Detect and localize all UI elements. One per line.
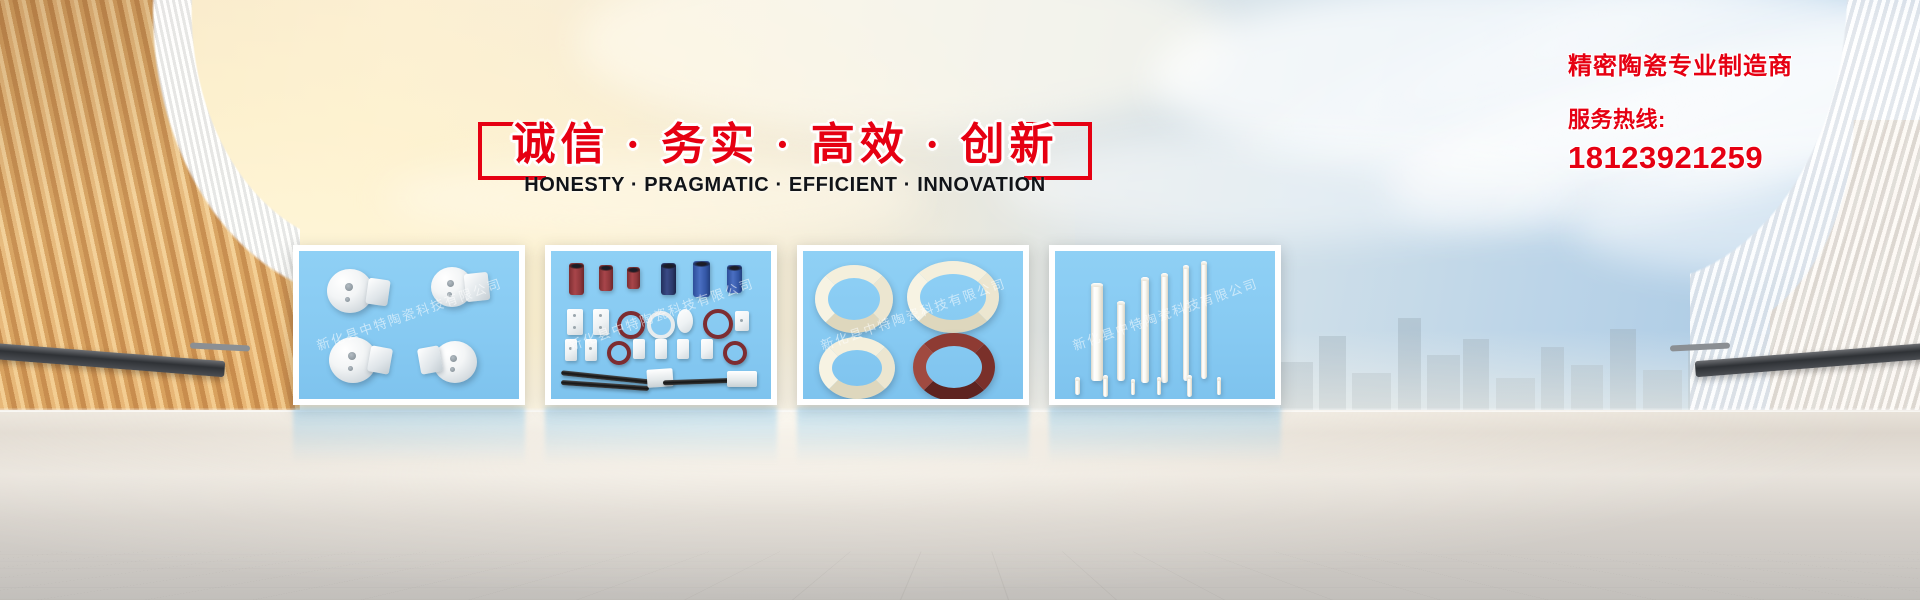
- ceramic-tube: [727, 265, 742, 293]
- ceramic-rod-small: [1217, 377, 1221, 395]
- ceramic-holder-tab: [464, 272, 491, 302]
- ceramic-rod: [1091, 283, 1103, 381]
- ceramic-ring-small: [647, 311, 675, 339]
- ceramic-ring-large: [815, 265, 893, 333]
- ceramic-rod: [1117, 301, 1125, 381]
- product-card-ceramic-rods[interactable]: 新化县中特陶瓷科技有限公司: [1049, 245, 1281, 405]
- ceramic-ring-small: [607, 341, 631, 365]
- product-card-ceramic-lamp-holders[interactable]: 新化县中特陶瓷科技有限公司: [293, 245, 525, 405]
- ceramic-holder-tab: [365, 278, 390, 307]
- ceramic-rod: [1183, 265, 1189, 381]
- ceramic-ring-small: [703, 309, 733, 339]
- ceramic-rod-small: [1187, 375, 1192, 397]
- ceramic-plate: [567, 309, 583, 335]
- ceramic-rod-small: [1075, 377, 1080, 395]
- ceramic-rod-small: [1131, 379, 1135, 395]
- ceramic-plate: [677, 339, 689, 359]
- ceramic-rod: [1201, 261, 1207, 379]
- ceramic-ring-small: [723, 341, 747, 365]
- product-card-ceramic-tubes[interactable]: 新化县中特陶瓷科技有限公司: [545, 245, 777, 405]
- ceramic-tube: [661, 263, 676, 295]
- ceramic-plate: [735, 311, 749, 331]
- ceramic-plate: [585, 339, 597, 361]
- ceramic-plate: [701, 339, 713, 359]
- ceramic-plate: [633, 339, 645, 359]
- ceramic-ring-red: [913, 333, 995, 399]
- product-card-row: 新化县中特陶瓷科技有限公司: [0, 0, 1920, 600]
- ceramic-plate: [593, 309, 609, 335]
- promotional-banner: 诚信 · 务实 · 高效 · 创新 HONESTY · PRAGMATIC · …: [0, 0, 1920, 600]
- ceramic-ring-small: [617, 311, 645, 339]
- ceramic-ring-large: [907, 261, 999, 333]
- ceramic-ring-large: [819, 337, 895, 399]
- ceramic-rod-small: [1103, 375, 1108, 397]
- ceramic-tube: [693, 261, 710, 297]
- product-card-ceramic-rings[interactable]: 新化县中特陶瓷科技有限公司: [797, 245, 1029, 405]
- ceramic-plate: [565, 339, 577, 361]
- ceramic-rod: [1141, 277, 1149, 383]
- wire-connector: [727, 371, 757, 387]
- ceramic-rod: [1161, 273, 1168, 383]
- ceramic-holder-tab: [417, 345, 443, 374]
- ceramic-tube: [569, 263, 584, 295]
- ceramic-plate: [655, 339, 667, 359]
- ceramic-tube: [599, 265, 613, 291]
- ceramic-tube: [627, 267, 640, 289]
- ceramic-holder-tab: [367, 345, 393, 374]
- ceramic-disc: [677, 309, 693, 333]
- ceramic-rod-small: [1157, 377, 1161, 395]
